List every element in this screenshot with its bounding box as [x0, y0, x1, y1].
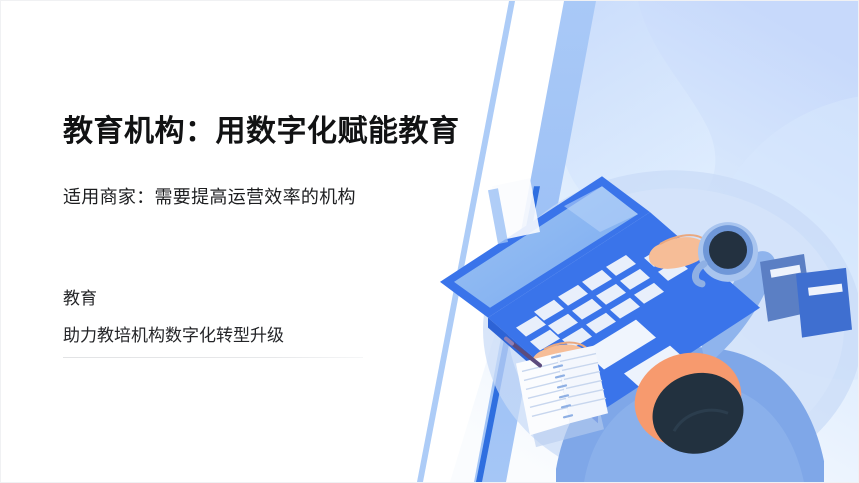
caption-divider	[63, 357, 363, 358]
page-title: 教育机构：用数字化赋能教育	[63, 114, 460, 151]
coffee-liquid	[709, 231, 747, 269]
illustration-panel	[388, 1, 858, 482]
subtitle-target-merchants: 适用商家：需要提高运营效率的机构	[63, 184, 356, 211]
slide-canvas: 教育机构：用数字化赋能教育 适用商家：需要提高运营效率的机构 教育 助力教培机构…	[0, 0, 859, 483]
category-tag: 教育	[63, 287, 97, 312]
caption-text: 助力教培机构数字化转型升级	[63, 324, 284, 349]
illustration-svg	[388, 1, 858, 482]
book-front	[796, 268, 852, 338]
